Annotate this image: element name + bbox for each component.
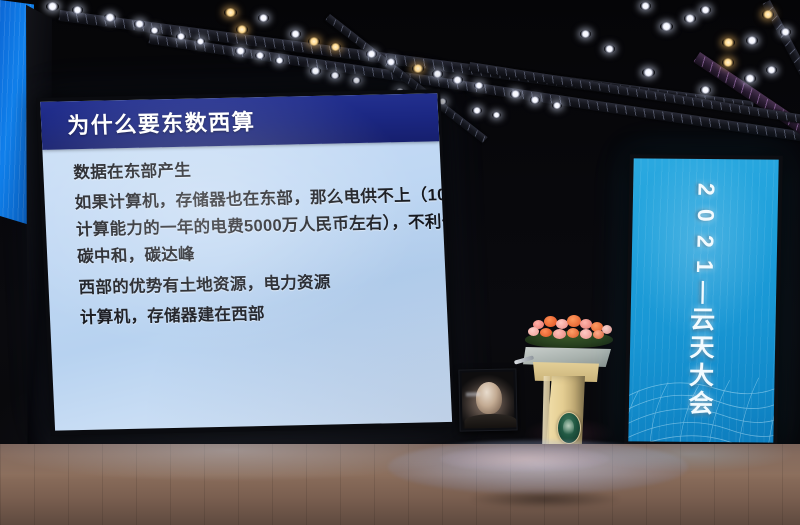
- flower-petal: [540, 328, 552, 337]
- podium-shadow: [470, 490, 620, 508]
- stage-light: [722, 58, 734, 67]
- slide-surface: 为什么要东数西算 数据在东部产生 如果计算机，存储器也在东部，那么电供不上（10…: [40, 93, 452, 430]
- stage-light: [432, 70, 443, 78]
- banner-char: 会: [629, 389, 775, 418]
- stage-light: [330, 43, 341, 51]
- conference-stage-photo: 为什么要东数西算 数据在东部产生 如果计算机，存储器也在东部，那么电供不上（10…: [0, 0, 800, 525]
- stage-light: [684, 14, 696, 23]
- event-banner-led: 2 0 2 1 — 云 天 大 会: [624, 154, 783, 447]
- slide-body: 数据在东部产生 如果计算机，存储器也在东部，那么电供不上（100p 计算能力的一…: [42, 141, 452, 430]
- stage-light: [780, 28, 791, 36]
- stage-light: [236, 25, 248, 34]
- speaker-face: [476, 382, 503, 415]
- stage-light: [510, 90, 521, 98]
- stage-light: [366, 50, 377, 58]
- slide-title-text: 为什么要东数西算: [67, 104, 256, 140]
- stage-light: [474, 82, 484, 89]
- slide-line: 碳中和，碳达峰: [77, 242, 435, 267]
- slide-line: 计算机，存储器建在西部: [80, 302, 438, 327]
- banner-surface: 2 0 2 1 — 云 天 大 会: [628, 158, 778, 442]
- stage-light: [700, 6, 711, 14]
- banner-char: —: [689, 220, 718, 365]
- flower-petal: [580, 329, 592, 339]
- stage-light: [580, 30, 591, 38]
- stage-light: [46, 2, 59, 11]
- slide-line: 如果计算机，存储器也在东部，那么电供不上（100p: [74, 188, 432, 213]
- stage-light: [104, 13, 116, 22]
- slide-title-bar: 为什么要东数西算: [40, 93, 439, 150]
- slide-line: 数据在东部产生: [73, 157, 431, 182]
- stage-light: [255, 52, 265, 59]
- banner-text: 2 0 2 1 — 云 天 大 会: [629, 176, 779, 418]
- floral-arrangement: [523, 314, 615, 350]
- stage-light: [386, 58, 396, 66]
- flower-petal: [567, 315, 581, 327]
- stage-light: [744, 74, 756, 83]
- flower-petal: [567, 328, 579, 338]
- flower-petal: [528, 327, 539, 336]
- stage-light: [224, 8, 237, 17]
- stage-light: [552, 102, 562, 109]
- stage-floor: [0, 444, 800, 525]
- stage-light: [492, 112, 501, 118]
- stage-light: [235, 47, 246, 55]
- stage-light: [762, 10, 774, 19]
- podium-emblem-icon: [557, 412, 581, 444]
- flower-petal: [602, 325, 612, 334]
- stage-light: [472, 107, 482, 114]
- floor-reflection: [0, 444, 800, 525]
- stage-light: [275, 57, 284, 64]
- stage-light: [308, 37, 320, 46]
- slide-line: 计算能力的一年的电费5000万人民币左右），不利于: [76, 215, 434, 240]
- monitor-glint: [466, 392, 480, 396]
- stage-light: [310, 67, 321, 75]
- stage-light: [72, 6, 83, 14]
- stage-light: [452, 76, 463, 84]
- stage-light: [176, 33, 186, 40]
- stage-light: [700, 86, 711, 94]
- stage-light: [642, 68, 655, 77]
- slide-line: 西部的优势有土地资源，电力资源: [78, 272, 436, 297]
- banner-char: 大: [629, 361, 775, 390]
- stage-light: [530, 96, 540, 104]
- flower-petal: [544, 316, 557, 327]
- stage-light: [134, 20, 145, 28]
- stage-light: [604, 45, 615, 53]
- stage-light: [258, 14, 269, 22]
- stage-light: [722, 38, 735, 47]
- stage-light: [150, 27, 159, 34]
- stage-light: [746, 36, 758, 45]
- stage-light: [330, 72, 340, 79]
- stage-light: [766, 66, 777, 74]
- stage-light: [412, 64, 424, 73]
- projection-screen: 为什么要东数西算 数据在东部产生 如果计算机，存储器也在东部，那么电供不上（10…: [36, 89, 455, 435]
- stage-light: [640, 2, 651, 10]
- stage-light: [290, 30, 301, 38]
- stage-light: [660, 22, 673, 31]
- stage-light: [352, 77, 361, 84]
- flower-petal: [553, 329, 566, 339]
- stage-light: [196, 38, 205, 45]
